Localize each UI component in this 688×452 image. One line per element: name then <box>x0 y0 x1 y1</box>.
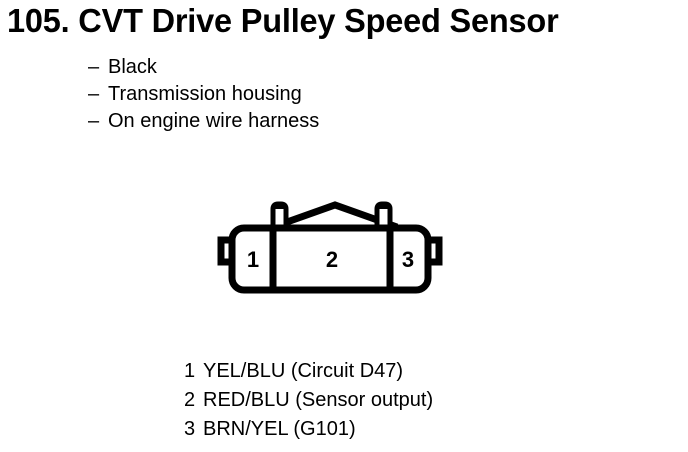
pin-legend: 1 YEL/BLU (Circuit D47) 2 RED/BLU (Senso… <box>184 357 604 444</box>
pin-legend-row: 3 BRN/YEL (G101) <box>184 415 604 444</box>
page-title: 105. CVT Drive Pulley Speed Sensor <box>7 1 671 41</box>
page-root: 105. CVT Drive Pulley Speed Sensor – Bla… <box>0 0 688 452</box>
dash-icon: – <box>88 81 108 108</box>
connector-drawing: 1 2 3 <box>205 190 455 305</box>
pin-legend-row: 1 YEL/BLU (Circuit D47) <box>184 357 604 386</box>
dash-icon: – <box>88 54 108 81</box>
dash-icon: – <box>88 108 108 135</box>
spec-item-label: Transmission housing <box>108 81 302 108</box>
pin-description: YEL/BLU (Circuit D47) <box>203 357 403 386</box>
spec-item-location: – Transmission housing <box>88 81 508 108</box>
pin-description: RED/BLU (Sensor output) <box>203 386 433 415</box>
cavity-number-1: 1 <box>247 247 259 272</box>
spec-item-label: On engine wire harness <box>108 108 319 135</box>
pin-number: 2 <box>184 386 203 415</box>
cavity-number-2: 2 <box>326 247 338 272</box>
pin-description: BRN/YEL (G101) <box>203 415 356 444</box>
pin-number: 3 <box>184 415 203 444</box>
spec-list: – Black – Transmission housing – On engi… <box>88 54 508 135</box>
spec-item-color: – Black <box>88 54 508 81</box>
pin-legend-row: 2 RED/BLU (Sensor output) <box>184 386 604 415</box>
cavity-number-3: 3 <box>402 247 414 272</box>
spec-item-harness: – On engine wire harness <box>88 108 508 135</box>
connector-diagram: 1 2 3 <box>205 190 455 305</box>
pin-number: 1 <box>184 357 203 386</box>
spec-item-label: Black <box>108 54 157 81</box>
